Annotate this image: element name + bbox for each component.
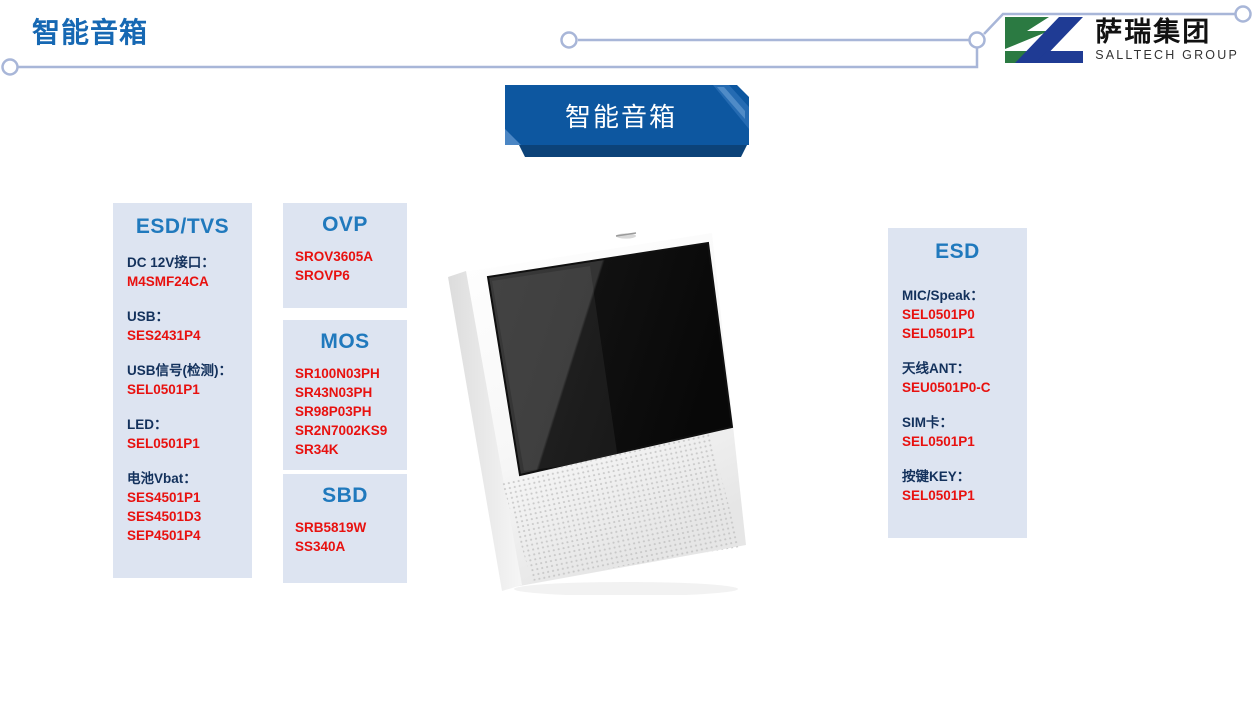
spec-group: 天线ANT： SEU0501P0-C — [902, 359, 1013, 397]
smart-speaker-illustration — [440, 215, 790, 595]
spec-label: SIM卡： — [902, 413, 1013, 432]
panel-body: MIC/Speak： SEL0501P0 SEL0501P1 天线ANT： SE… — [902, 286, 1013, 505]
panel-body: SROV3605A SROVP6 — [295, 247, 395, 285]
panel-esd: ESD MIC/Speak： SEL0501P0 SEL0501P1 天线ANT… — [888, 228, 1027, 538]
panel-body: DC 12V接口： M4SMF24CA USB： SES2431P4 USB信号… — [127, 253, 238, 545]
company-logo: 萨瑞集团 SALLTECH GROUP — [1003, 14, 1239, 66]
panel-ovp: OVP SROV3605A SROVP6 — [283, 203, 407, 308]
page-header: 智能音箱 萨瑞集团 SALLTECH GROUP — [0, 0, 1257, 82]
spec-group: SIM卡： SEL0501P1 — [902, 413, 1013, 451]
spec-group: LED： SEL0501P1 — [127, 415, 238, 453]
spec-label: USB信号(检测)： — [127, 361, 238, 380]
spec-label: LED： — [127, 415, 238, 434]
spec-group: DC 12V接口： M4SMF24CA — [127, 253, 238, 291]
spec-group: 按键KEY： SEL0501P1 — [902, 467, 1013, 505]
spec-label: DC 12V接口： — [127, 253, 238, 272]
logo-name-en: SALLTECH GROUP — [1095, 49, 1239, 62]
panel-body: SR100N03PH SR43N03PH SR98P03PH SR2N7002K… — [295, 364, 395, 459]
spec-group: SR100N03PH SR43N03PH SR98P03PH SR2N7002K… — [295, 364, 395, 459]
panel-sbd: SBD SRB5819W SS340A — [283, 474, 407, 583]
banner-label: 智能音箱 — [505, 85, 737, 145]
salltech-logo-mark — [1003, 15, 1085, 65]
banner-shadow — [519, 145, 747, 157]
panel-title: ESD — [902, 240, 1013, 264]
spec-part: SR100N03PH — [295, 364, 395, 383]
spec-label: 电池Vbat： — [127, 469, 238, 488]
spec-part: SEL0501P1 — [127, 380, 238, 399]
spec-group: 电池Vbat： SES4501P1 SES4501D3 SEP4501P4 — [127, 469, 238, 545]
product-shadow — [514, 582, 738, 595]
spec-part: SEL0501P0 — [902, 305, 1013, 324]
page-title: 智能音箱 — [32, 15, 148, 51]
spec-part: SS340A — [295, 537, 395, 556]
spec-part: SRB5819W — [295, 518, 395, 537]
section-banner: 智能音箱 — [505, 85, 755, 157]
product-image-smart-speaker — [440, 215, 790, 595]
spec-part: SR43N03PH — [295, 383, 395, 402]
spec-part: SROVP6 — [295, 266, 395, 285]
spec-part: SES4501P1 — [127, 488, 238, 507]
deco-node-mid-right — [970, 33, 985, 48]
spec-part: SEL0501P1 — [902, 324, 1013, 343]
spec-part: SR34K — [295, 440, 395, 459]
panel-title: OVP — [295, 213, 395, 237]
spec-group: MIC/Speak： SEL0501P0 SEL0501P1 — [902, 286, 1013, 343]
spec-group: SROV3605A SROVP6 — [295, 247, 395, 285]
spec-group: USB信号(检测)： SEL0501P1 — [127, 361, 238, 399]
spec-label: 按键KEY： — [902, 467, 1013, 486]
spec-group: SRB5819W SS340A — [295, 518, 395, 556]
spec-label: MIC/Speak： — [902, 286, 1013, 305]
panel-mos: MOS SR100N03PH SR43N03PH SR98P03PH SR2N7… — [283, 320, 407, 470]
spec-part: SES4501D3 — [127, 507, 238, 526]
spec-part: SEU0501P0-C — [902, 378, 1013, 397]
spec-part: SEL0501P1 — [902, 486, 1013, 505]
spec-part: SEL0501P1 — [127, 434, 238, 453]
spec-part: SR98P03PH — [295, 402, 395, 421]
panel-title: ESD/TVS — [127, 215, 238, 239]
deco-node-mid-left — [562, 33, 577, 48]
panel-body: SRB5819W SS340A — [295, 518, 395, 556]
spec-part: SES2431P4 — [127, 326, 238, 345]
panel-title: SBD — [295, 484, 395, 508]
spec-part: SROV3605A — [295, 247, 395, 266]
panel-title: MOS — [295, 330, 395, 354]
logo-name-cn: 萨瑞集团 — [1095, 19, 1239, 46]
spec-part: SEP4501P4 — [127, 526, 238, 545]
spec-label: 天线ANT： — [902, 359, 1013, 378]
spec-part: SR2N7002KS9 — [295, 421, 395, 440]
spec-part: SEL0501P1 — [902, 432, 1013, 451]
spec-label: USB： — [127, 307, 238, 326]
deco-node-left — [3, 60, 18, 75]
panel-esd-tvs: ESD/TVS DC 12V接口： M4SMF24CA USB： SES2431… — [113, 203, 252, 578]
logo-text: 萨瑞集团 SALLTECH GROUP — [1095, 19, 1239, 62]
spec-part: M4SMF24CA — [127, 272, 238, 291]
spec-group: USB： SES2431P4 — [127, 307, 238, 345]
